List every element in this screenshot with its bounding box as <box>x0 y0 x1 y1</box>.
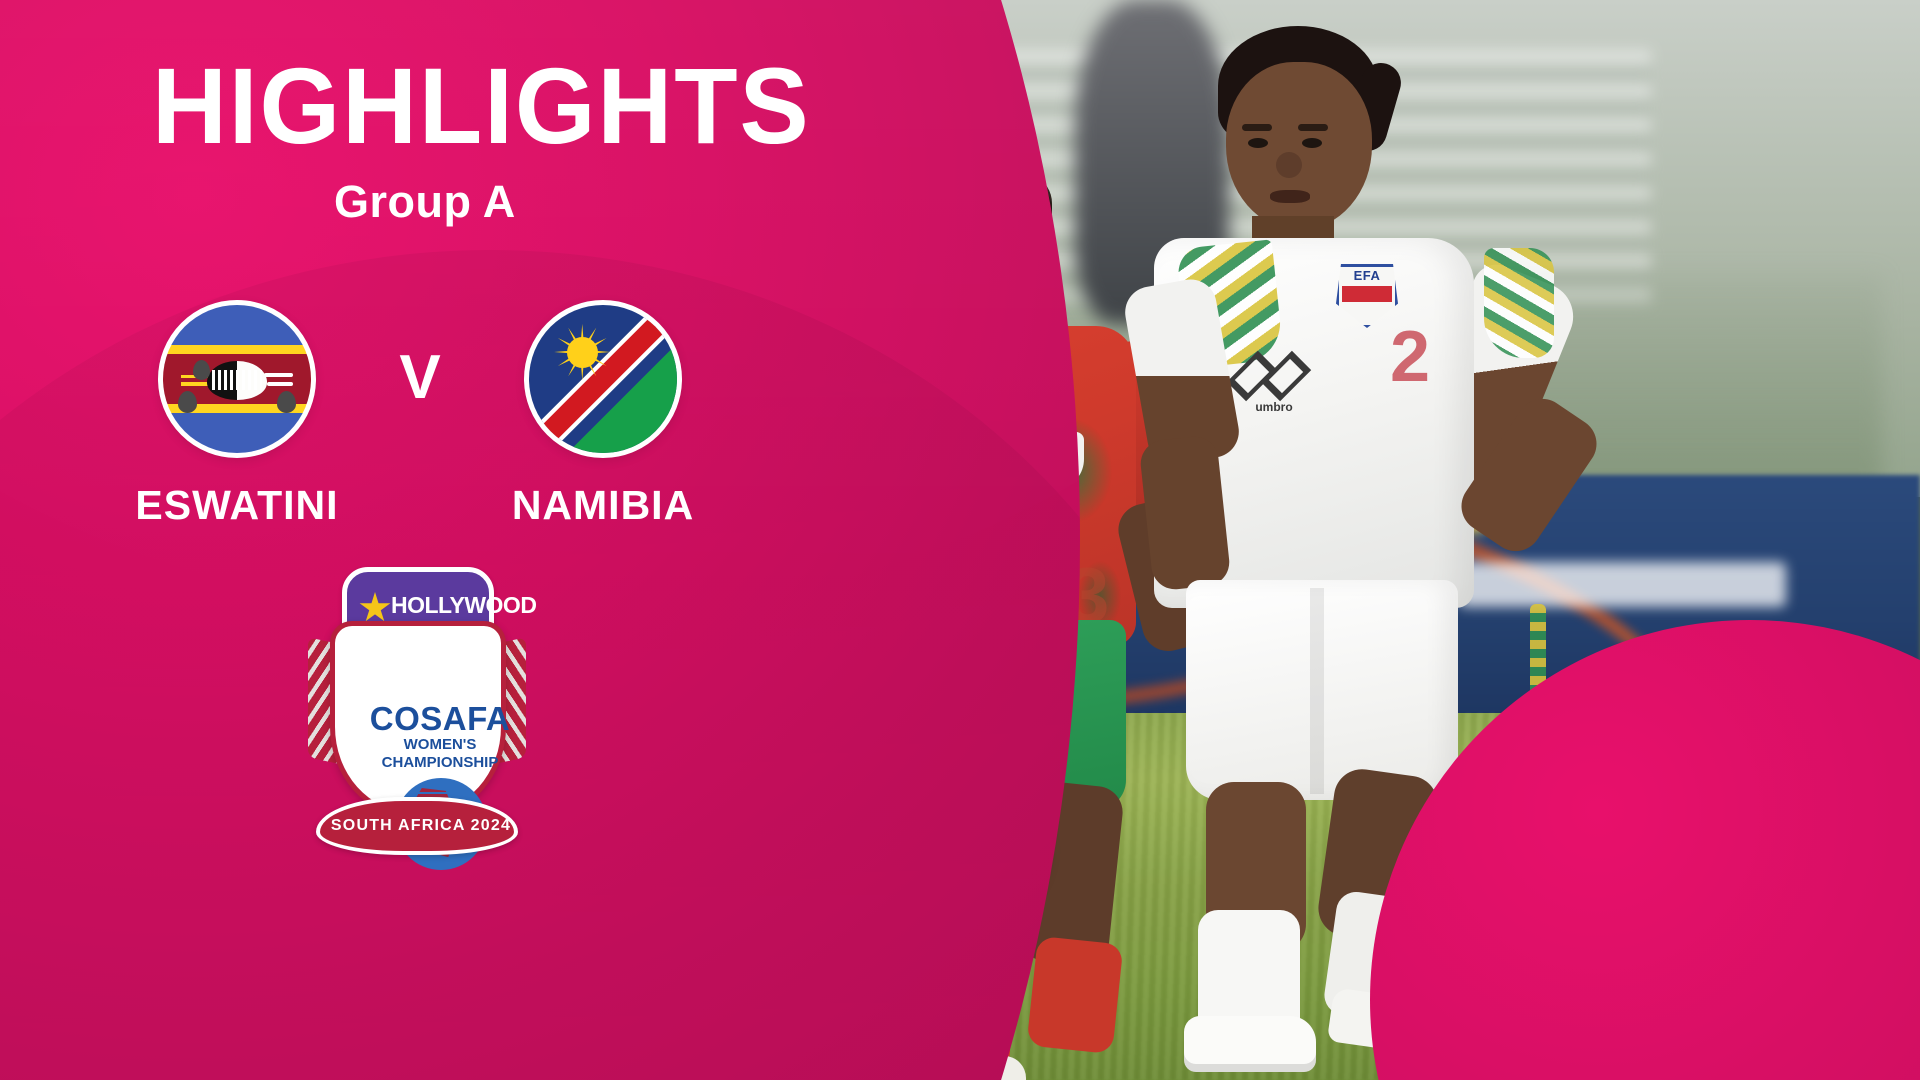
tournament-name: COSAFA <box>335 700 545 738</box>
white-shorts <box>1186 580 1458 800</box>
umbro-diamond-right <box>1261 351 1311 401</box>
tournament-line2: CHAMPIONSHIP <box>335 754 545 771</box>
flag-tassel-left <box>178 391 197 413</box>
jersey-shoulder-pattern-right <box>1484 248 1554 358</box>
away-team-name: NAMIBIA <box>438 482 768 529</box>
flag-tassel-right <box>277 391 296 413</box>
player-forearm-left <box>1138 434 1231 591</box>
flag-spear-lower <box>267 382 294 386</box>
tournament-line1: WOMEN'S <box>335 736 545 753</box>
eswatini-flag-icon <box>158 300 316 458</box>
flag-band-blue-top <box>163 305 311 345</box>
player-eye-right <box>1302 138 1322 148</box>
player-sock-right <box>1026 936 1123 1054</box>
match-fixture: V ESWATINI NAMIBIA <box>130 300 710 540</box>
page-title: HIGHLIGHTS <box>152 52 811 160</box>
player-brow-left <box>1242 124 1272 131</box>
gold-star-icon <box>359 592 391 624</box>
highlights-graphic: 3 <box>0 0 1920 1080</box>
player-boot-left <box>1184 1016 1316 1072</box>
jersey-number: 2 <box>1390 316 1430 398</box>
player-nose <box>1276 152 1302 178</box>
flag-band-blue-bottom <box>163 413 311 453</box>
player-mouth <box>1270 190 1310 203</box>
flag-shield <box>207 361 266 399</box>
group-subtitle: Group A <box>334 176 516 228</box>
flag-tassel-upper <box>193 360 211 381</box>
crest-bar <box>1342 286 1392 302</box>
home-team-name: ESWATINI <box>72 482 402 529</box>
namibia-flag-icon <box>524 300 682 458</box>
efa-crest-icon: EFA <box>1336 264 1398 328</box>
player-head <box>1226 62 1372 230</box>
player-eye-left <box>1248 138 1268 148</box>
tournament-logo: HOLLYWOOD bets COSAFA WOMEN'S CHAMPIONSH… <box>312 565 522 860</box>
flag-spear-upper <box>264 373 294 377</box>
versus-separator: V <box>370 342 470 413</box>
sun-core <box>567 337 598 368</box>
host-ribbon: SOUTH AFRICA 2024 <box>316 797 518 855</box>
flag-band-yellow-top <box>163 345 311 354</box>
sponsor-name: HOLLYWOOD <box>391 592 536 619</box>
flag-sun-icon <box>554 324 610 380</box>
player-brow-right <box>1298 124 1328 131</box>
umbro-logo-icon: umbro <box>1228 350 1320 404</box>
umbro-wordmark: umbro <box>1228 400 1320 414</box>
crest-text: EFA <box>1336 268 1398 283</box>
logo-shield: COSAFA WOMEN'S CHAMPIONSHIP <box>330 621 506 817</box>
host-ribbon-text: SOUTH AFRICA 2024 <box>320 817 522 835</box>
